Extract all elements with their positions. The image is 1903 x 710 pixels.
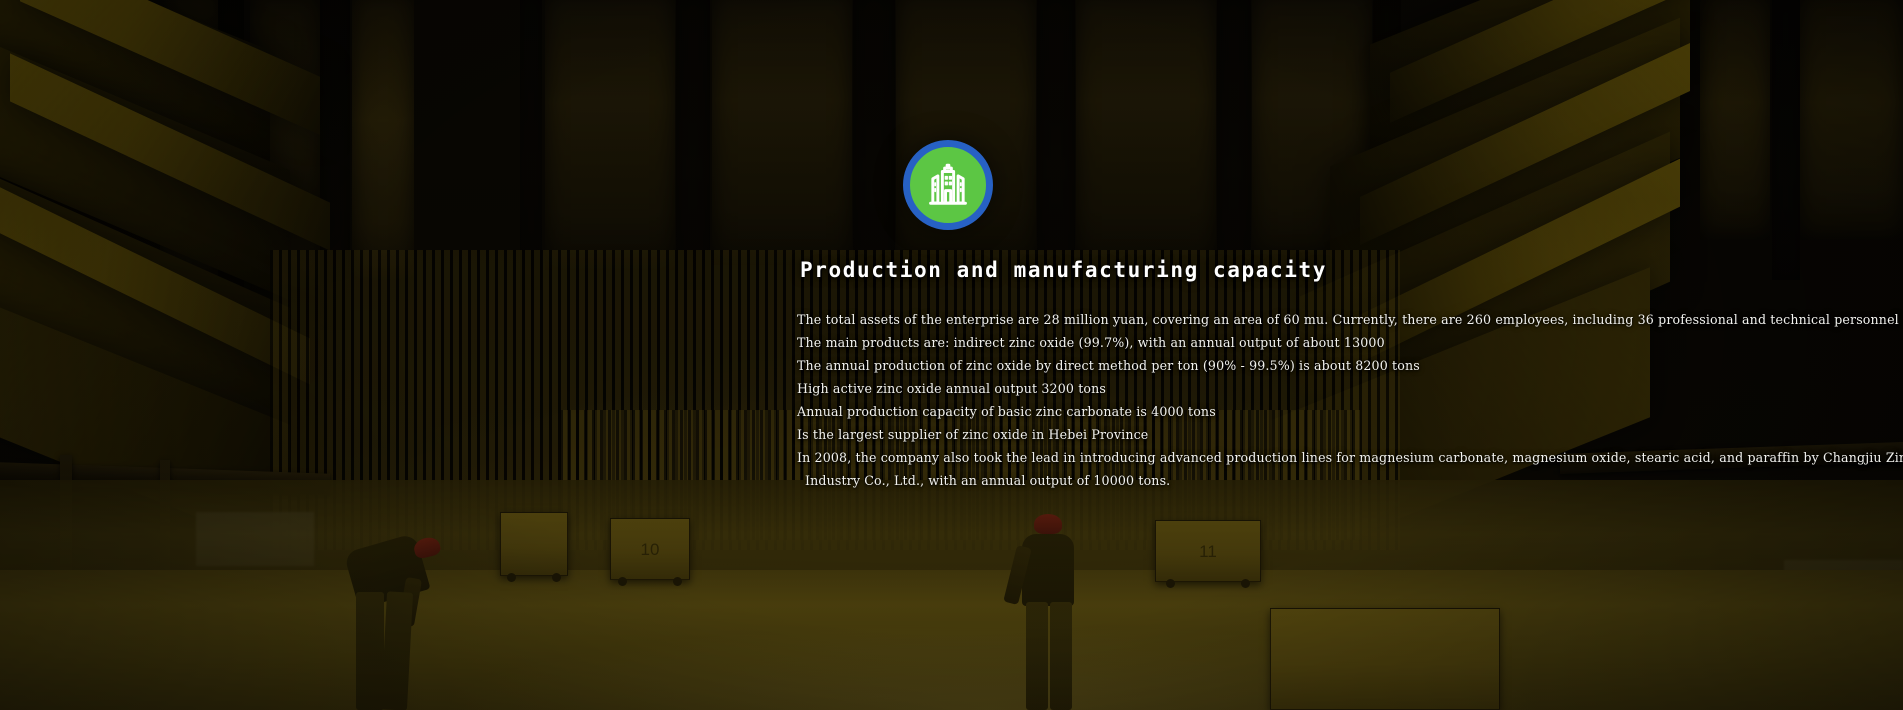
capacity-line: Annual production capacity of basic zinc… bbox=[797, 400, 1887, 423]
capacity-line: The main products are: indirect zinc oxi… bbox=[797, 331, 1887, 354]
page-stage: 10 11 bbox=[0, 0, 1903, 710]
capacity-line: The total assets of the enterprise are 2… bbox=[797, 308, 1887, 331]
capacity-line: High active zinc oxide annual output 320… bbox=[797, 377, 1887, 400]
capacity-line: The annual production of zinc oxide by d… bbox=[797, 354, 1887, 377]
factory-building-badge bbox=[903, 140, 993, 230]
page-title: Production and manufacturing capacity bbox=[800, 258, 1327, 282]
content-overlay: Production and manufacturing capacity Th… bbox=[0, 0, 1903, 710]
factory-building-icon bbox=[921, 158, 975, 212]
capacity-line: Industry Co., Ltd., with an annual outpu… bbox=[797, 469, 1887, 492]
capacity-description: The total assets of the enterprise are 2… bbox=[797, 308, 1887, 492]
capacity-line: Is the largest supplier of zinc oxide in… bbox=[797, 423, 1887, 446]
capacity-line: In 2008, the company also took the lead … bbox=[797, 446, 1887, 469]
